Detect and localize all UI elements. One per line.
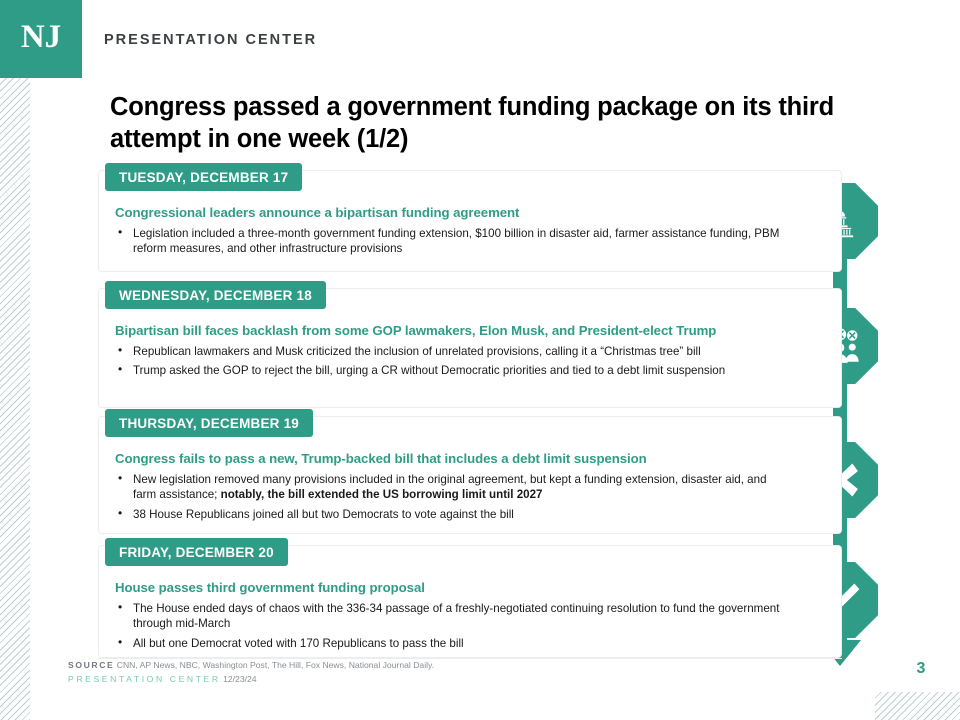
list-item: All but one Democrat voted with 170 Repu… [115, 636, 786, 651]
card-bullets-wednesday: Republican lawmakers and Musk criticized… [115, 344, 786, 383]
source-label: SOURCE [68, 660, 114, 670]
decorative-stripes-left [0, 78, 30, 720]
page-title: Congress passed a government funding pac… [110, 92, 850, 155]
timeline-card-wednesday: WEDNESDAY, DECEMBER 18 Bipartisan bill f… [98, 288, 842, 408]
date-badge-wednesday: WEDNESDAY, DECEMBER 18 [105, 281, 326, 309]
list-item: Legislation included a three-month gover… [115, 226, 786, 257]
date-badge-friday: FRIDAY, DECEMBER 20 [105, 538, 288, 566]
timeline-card-friday: FRIDAY, DECEMBER 20 House passes third g… [98, 545, 842, 658]
list-item: Republican lawmakers and Musk criticized… [115, 344, 786, 359]
source-text: CNN, AP News, NBC, Washington Post, The … [117, 660, 434, 670]
card-headline-wednesday: Bipartisan bill faces backlash from some… [115, 323, 831, 338]
card-bullets-tuesday: Legislation included a three-month gover… [115, 226, 786, 261]
presentation-center-label: PRESENTATION CENTER [68, 674, 221, 684]
list-item: New legislation removed many provisions … [115, 472, 786, 503]
card-headline-thursday: Congress fails to pass a new, Trump-back… [115, 451, 831, 466]
source-line: SOURCE CNN, AP News, NBC, Washington Pos… [68, 660, 434, 670]
date-badge-thursday: THURSDAY, DECEMBER 19 [105, 409, 313, 437]
decorative-stripes-bottom-right [875, 692, 960, 720]
nj-logo-text: NJ [0, 0, 82, 78]
card-bullets-friday: The House ended days of chaos with the 3… [115, 601, 786, 655]
timeline-card-tuesday: TUESDAY, DECEMBER 17 Congressional leade… [98, 170, 842, 272]
date-badge-tuesday: TUESDAY, DECEMBER 17 [105, 163, 302, 191]
presentation-center-line: PRESENTATION CENTER 12/23/24 [68, 674, 257, 684]
page-number: 3 [908, 660, 934, 678]
list-item: The House ended days of chaos with the 3… [115, 601, 786, 632]
footer-divider [98, 658, 842, 659]
card-bullets-thursday: New legislation removed many provisions … [115, 472, 786, 526]
card-headline-friday: House passes third government funding pr… [115, 580, 831, 595]
card-headline-tuesday: Congressional leaders announce a biparti… [115, 205, 831, 220]
presentation-date: 12/23/24 [223, 674, 256, 684]
header-brand-label: PRESENTATION CENTER [104, 32, 317, 48]
slide: NJ PRESENTATION CENTER Congress passed a… [0, 0, 960, 720]
list-item: Trump asked the GOP to reject the bill, … [115, 363, 786, 378]
timeline-card-thursday: THURSDAY, DECEMBER 19 Congress fails to … [98, 416, 842, 534]
list-item: 38 House Republicans joined all but two … [115, 507, 786, 522]
